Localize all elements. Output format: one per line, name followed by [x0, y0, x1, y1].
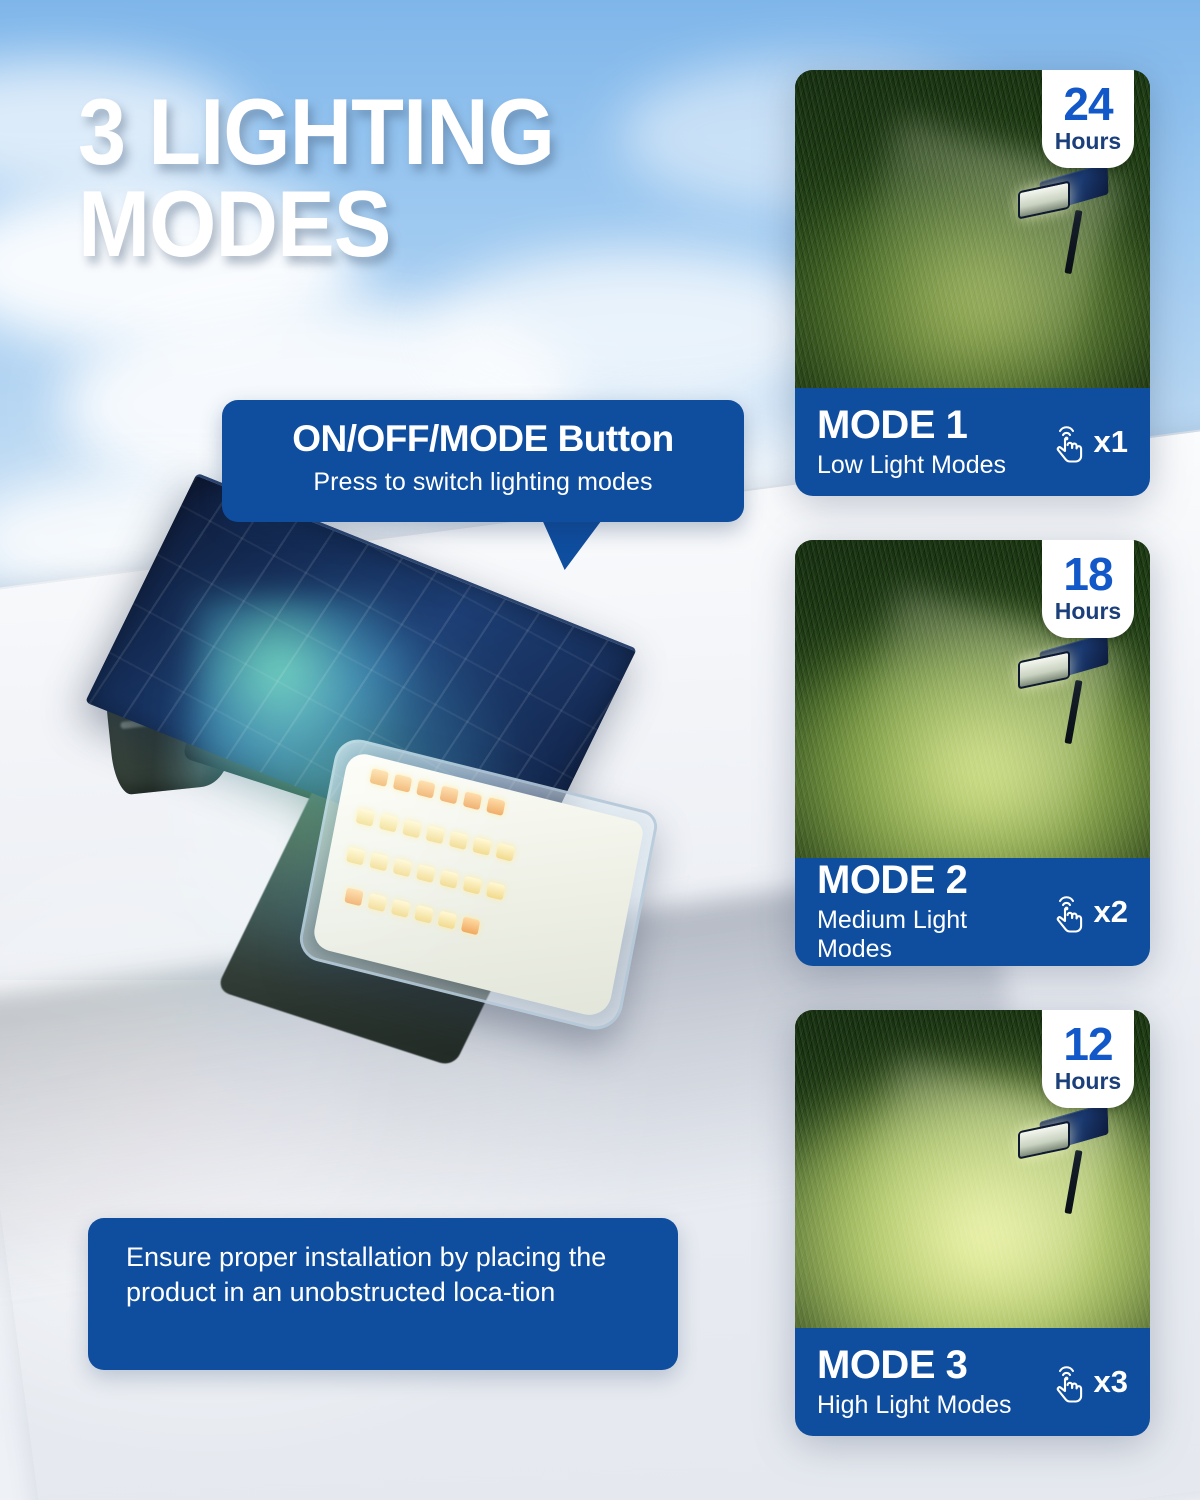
mode-footer: MODE 1 Low Light Modes x1: [795, 388, 1150, 496]
runtime-hours: 12: [1063, 1023, 1112, 1065]
mode-footer: MODE 2 Medium Light Modes x2: [795, 858, 1150, 966]
tap-hand-icon: [1046, 888, 1090, 936]
cloud: [430, 250, 850, 410]
mode-title: MODE 3: [817, 1345, 1046, 1385]
mode-title: MODE 2: [817, 860, 1046, 900]
page-title: 3 LIGHTING MODES: [78, 86, 704, 270]
callout-pointer: [541, 518, 610, 570]
callout-title: ON/OFF/MODE Button: [222, 418, 744, 460]
press-count: x3: [1094, 1364, 1128, 1400]
mode-subtitle: Medium Light Modes: [817, 906, 1046, 964]
spotlight-fixture: [1018, 636, 1114, 746]
mode-title: MODE 1: [817, 405, 1046, 445]
green-flare: [180, 640, 540, 970]
mode-photo: 12 Hours: [795, 1010, 1150, 1328]
runtime-hours: 18: [1063, 553, 1112, 595]
title-line-2: MODES: [78, 178, 704, 270]
press-count: x2: [1094, 894, 1128, 930]
mode-footer: MODE 3 High Light Modes x3: [795, 1328, 1150, 1436]
callout-subtitle: Press to switch lighting modes: [222, 468, 744, 497]
runtime-badge: 24 Hours: [1042, 70, 1134, 168]
runtime-hours: 24: [1063, 83, 1112, 125]
spotlight-fixture: [1018, 166, 1114, 276]
mode-button-callout: ON/OFF/MODE Button Press to switch light…: [222, 400, 744, 522]
runtime-unit: Hours: [1055, 598, 1121, 625]
installation-note: Ensure proper installation by placing th…: [88, 1218, 678, 1370]
mode-subtitle: High Light Modes: [817, 1391, 1046, 1420]
press-count: x1: [1094, 424, 1128, 460]
tap-hand-icon: [1046, 1358, 1090, 1406]
runtime-badge: 18 Hours: [1042, 540, 1134, 638]
runtime-unit: Hours: [1055, 1068, 1121, 1095]
mode-card[interactable]: 12 Hours MODE 3 High Light Modes x3: [795, 1010, 1150, 1436]
runtime-badge: 12 Hours: [1042, 1010, 1134, 1108]
mode-photo: 24 Hours: [795, 70, 1150, 388]
title-line-1: 3 LIGHTING: [78, 79, 554, 184]
mode-card[interactable]: 18 Hours MODE 2 Medium Light Modes x2: [795, 540, 1150, 966]
spotlight-fixture: [1018, 1106, 1114, 1216]
mode-subtitle: Low Light Modes: [817, 451, 1046, 480]
mode-card[interactable]: 24 Hours MODE 1 Low Light Modes x1: [795, 70, 1150, 496]
mode-photo: 18 Hours: [795, 540, 1150, 858]
runtime-unit: Hours: [1055, 128, 1121, 155]
tap-hand-icon: [1046, 418, 1090, 466]
